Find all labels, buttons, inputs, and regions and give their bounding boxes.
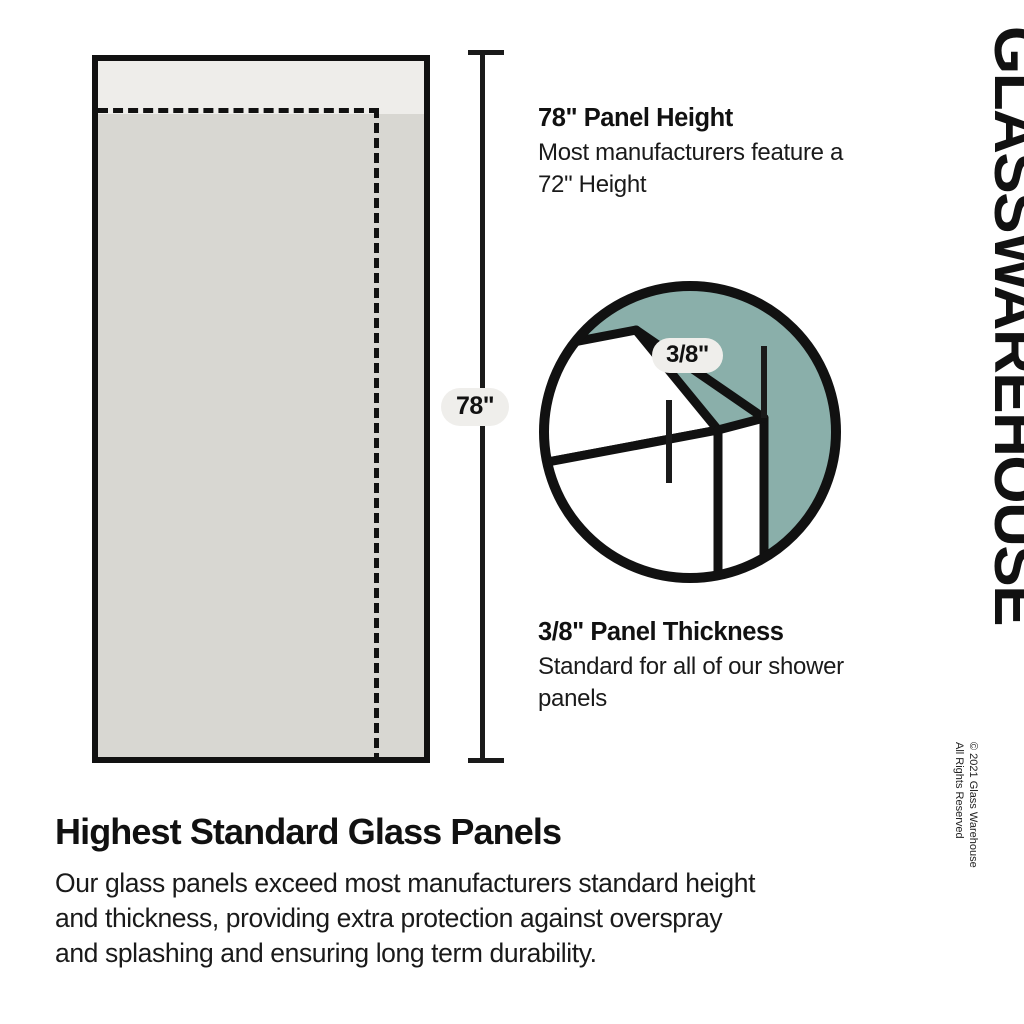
copyright-notice: © 2021 Glass Warehouse All Rights Reserv… [952, 742, 980, 912]
callout-height-body-line1: Most manufacturers [538, 139, 745, 166]
callout-thickness-body: Standard for all of our shower panels [538, 651, 868, 714]
infographic-canvas: 78" 78" Panel Height Most manufacturers … [0, 0, 1024, 1024]
glass-panel-illustration [92, 55, 430, 763]
callout-panel-thickness: 3/8" Panel Thickness Standard for all of… [538, 618, 868, 715]
footer-block: Highest Standard Glass Panels Our glass … [55, 812, 895, 971]
copyright-line-2: All Rights Reserved [952, 742, 966, 912]
footer-body: Our glass panels exceed most manufacture… [55, 866, 895, 971]
copyright-line-1: © 2021 Glass Warehouse [966, 742, 980, 912]
thickness-detail-svg [536, 278, 844, 586]
brand-wordmark: GLASSWAREHOUSE [978, 26, 1024, 626]
callout-height-title: 78" Panel Height [538, 104, 868, 133]
dimension-cap-top-icon [468, 50, 504, 55]
panel-thickness-detail-circle [536, 278, 844, 586]
callout-thickness-body-line1: Standard for all of our [538, 653, 762, 680]
footer-body-line2: and thickness, providing extra protectio… [55, 901, 895, 936]
callout-panel-height: 78" Panel Height Most manufacturers feat… [538, 104, 868, 201]
footer-body-line3: and splashing and ensuring long term dur… [55, 936, 895, 971]
panel-dashed-outline [98, 108, 379, 763]
footer-heading: Highest Standard Glass Panels [55, 812, 895, 852]
callout-height-body: Most manufacturers feature a 72" Height [538, 137, 868, 200]
footer-body-line1: Our glass panels exceed most manufacture… [55, 866, 895, 901]
callout-thickness-title: 3/8" Panel Thickness [538, 618, 868, 647]
dimension-cap-bottom-icon [468, 758, 504, 763]
height-dimension-badge: 78" [441, 388, 509, 426]
thickness-dimension-badge: 3/8" [652, 338, 723, 373]
